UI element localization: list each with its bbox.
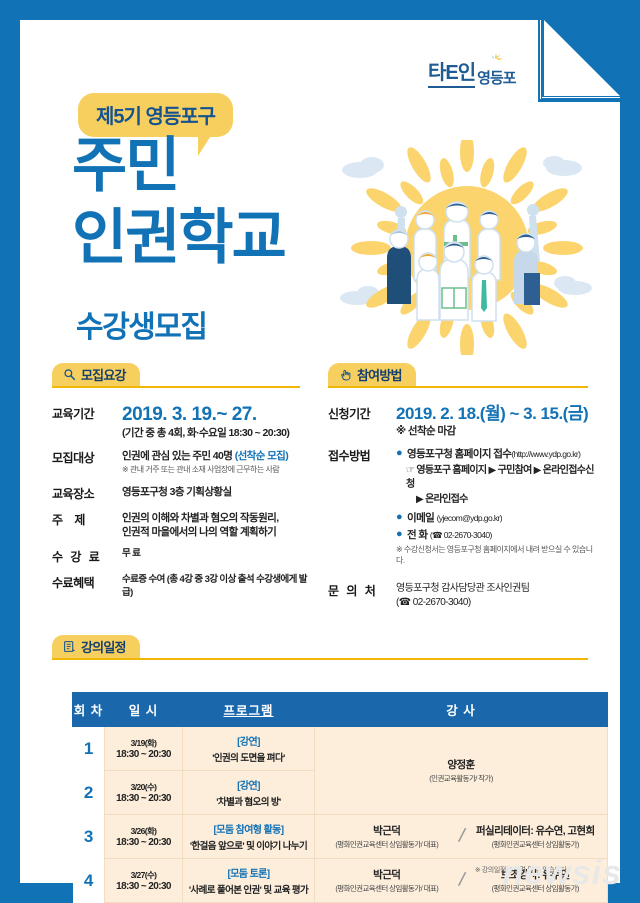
info-label-fee: 수 강 료: [52, 548, 114, 565]
apply-heading-tab: 참여방법: [328, 363, 416, 386]
recruit-section-heading: 모집요강: [52, 363, 300, 386]
search-icon: [63, 368, 76, 381]
cell-program-name-4: '사례로 풀어본 인권' 및 교육 평가: [189, 885, 308, 896]
schedule-heading-label: 강의일정: [81, 637, 126, 656]
list-document-icon: [63, 640, 76, 653]
info-label-benefit: 수료혜택: [52, 574, 114, 600]
table-row: 1 3/19(화) 18:30 ~ 20:30 [강연] '인권의 도면을 펴다…: [73, 727, 608, 771]
cell-date-2: 3/20(수): [131, 782, 157, 792]
cell-datetime-2: 3/20(수) 18:30 ~ 20:30: [105, 771, 183, 815]
info-label-apply-method: 접수방법: [328, 447, 390, 567]
page-subtitle: 수강생모집: [76, 302, 207, 346]
cell-program-name-2: '차별과 혐오의 방': [216, 797, 280, 808]
recruit-heading-label: 모집요강: [81, 365, 126, 384]
info-value-contact-team: 영등포구청 감사담당관 조사인권팀: [396, 582, 529, 596]
series-badge: 제5기 영등포구: [78, 93, 233, 137]
lecturer-name-4: 박근덕: [317, 867, 457, 882]
lecturer-org-4: (평화인권교육센터 상임활동가/ 대표): [317, 883, 457, 894]
cell-program-1: [강연] '인권의 도면을 펴다': [183, 727, 315, 771]
cell-time-1: 18:30 ~ 20:30: [116, 749, 171, 760]
cell-no-1: 1: [73, 727, 105, 771]
lecturer-org-3: (평화인권교육센터 상임활동가/ 대표): [317, 839, 457, 850]
logo-main-text: 타E인: [428, 56, 475, 88]
apply-section-heading: 참여방법: [328, 363, 588, 386]
lecturer-primary-3: 박근덕 (평화인권교육센터 상임활동가/ 대표): [317, 823, 457, 850]
apply-method-phone-value: (☎ 02-2670-3040): [430, 530, 492, 540]
info-row-apply-period: 신청기간 2019. 2. 18.(월) ~ 3. 15.(금) ※ 선착순 마…: [328, 405, 600, 438]
info-label-apply-period: 신청기간: [328, 405, 390, 438]
apply-method-email: ● 이메일 (yjecom@ydp.go.kr): [396, 511, 600, 525]
cell-time-3: 18:30 ~ 20:30: [116, 837, 171, 848]
poster-root: 타E인 영등포 제5기 영등포구 주민 인권학교 수강생모집: [0, 0, 640, 903]
apply-heading-label: 참여방법: [357, 365, 402, 384]
table-row: 3 3/26(화) 18:30 ~ 20:30 [모둠 참여형 활동] '한걸음…: [73, 815, 608, 859]
apply-method-phone: ● 전 화 (☎ 02-2670-3040): [396, 528, 600, 542]
newsis-watermark: newsis: [503, 854, 622, 893]
info-label-place: 교육장소: [52, 485, 114, 502]
apply-method-email-label: 이메일: [407, 512, 434, 524]
cell-no-3: 3: [73, 815, 105, 859]
lecturer-name-1: 양정훈: [317, 757, 605, 772]
apply-method-email-value[interactable]: (yjecom@ydp.go.kr): [437, 513, 502, 523]
cell-program-tag-4: [모둠 토론]: [185, 865, 312, 880]
info-value-topic-line1: 인권의 이해와 차별과 혐오의 작동원리,: [122, 511, 279, 525]
apply-method-homepage: ● 영등포구청 홈페이지 접수(http://www.ydp.go.kr): [396, 447, 600, 461]
lecturer-secondary-3: 퍼실리테이터: 유수연, 고현희 (평화인권교육센터 상임활동가): [465, 823, 605, 850]
cell-date-4: 3/27(수): [131, 870, 157, 880]
lecturer2-name-3: 퍼실리테이터: 유수연, 고현희: [465, 823, 605, 838]
info-value-contact-phone: (☎ 02-2670-3040): [396, 596, 529, 610]
series-badge-tail: [198, 134, 212, 156]
apply-method-online: ▶ 온라인접수: [396, 493, 600, 507]
apply-heading-rule: [328, 386, 588, 388]
schedule-table-header-row: 회 차 일 시 프로그램 강 사: [73, 693, 608, 727]
info-row-topic: 주 제 인권의 이해와 차별과 혐오의 작동원리, 인권적 마을에서의 나의 역…: [52, 511, 314, 539]
apply-method-homepage-url[interactable]: (http://www.ydp.go.kr): [511, 449, 580, 459]
schedule-heading-tab: 강의일정: [52, 635, 140, 658]
info-row-period: 교육기간 2019. 3. 19.~ 27. (기간 중 총 4회, 화·수요일…: [52, 405, 314, 440]
col-header-no: 회 차: [73, 693, 105, 727]
info-value-target-note: ※ 관내 거주 또는 관내 소재 사업장에 근무하는 사람: [122, 465, 288, 476]
info-label-contact: 문 의 처: [328, 582, 390, 609]
info-value-benefit: 수료증 수여 (총 4강 중 3강 이상 출석 수강생에게 발급): [114, 574, 314, 600]
recruit-heading-tab: 모집요강: [52, 363, 140, 386]
page-title-line2: 인권학교: [72, 208, 285, 268]
cell-program-3: [모둠 참여형 활동] '한걸음 앞으로' 및 이야기 나누기: [183, 815, 315, 859]
info-label-period: 교육기간: [52, 405, 114, 440]
info-value-apply-period: 2019. 2. 18.(월) ~ 3. 15.(금): [396, 405, 588, 424]
info-row-fee: 수 강 료 무 료: [52, 548, 314, 565]
corner-fold-decoration: [538, 20, 620, 102]
col-header-program: 프로그램: [183, 693, 315, 727]
lecturer-primary-4: 박근덕 (평화인권교육센터 상임활동가/ 대표): [317, 867, 457, 894]
cell-program-tag-2: [강연]: [185, 777, 312, 792]
cell-program-4: [모둠 토론] '사례로 풀어본 인권' 및 교육 평가: [183, 859, 315, 903]
info-row-place: 교육장소 영등포구청 3층 기획상황실: [52, 485, 314, 502]
recruit-info-list: 교육기간 2019. 3. 19.~ 27. (기간 중 총 4회, 화·수요일…: [52, 405, 314, 609]
info-row-target: 모집대상 인권에 관심 있는 주민 40명 (선착순 모집) ※ 관내 거주 또…: [52, 449, 314, 476]
cell-datetime-1: 3/19(화) 18:30 ~ 20:30: [105, 727, 183, 771]
apply-method-phone-label: 전 화: [407, 529, 427, 541]
info-row-contact: 문 의 처 영등포구청 감사담당관 조사인권팀 (☎ 02-2670-3040): [328, 582, 600, 609]
cell-program-2: [강연] '차별과 혐오의 방': [183, 771, 315, 815]
apply-method-homepage-text: 영등포구청 홈페이지 접수: [407, 448, 511, 460]
cell-program-name-3: '한걸음 앞으로' 및 이야기 나누기: [190, 841, 307, 852]
cell-no-4: 4: [73, 859, 105, 903]
info-value-period-note: (기간 중 총 4회, 화·수요일 18:30 ~ 20:30): [122, 426, 289, 440]
lecturer-org-1: (인권교육활동가/ 작가): [317, 773, 605, 784]
col-header-datetime: 일 시: [105, 693, 183, 727]
recruit-heading-rule: [52, 386, 300, 388]
info-value-target: 인권에 관심 있는 주민 40명: [122, 450, 232, 462]
spark-icon: [488, 52, 504, 68]
schedule-section-heading: 강의일정: [52, 635, 588, 658]
schedule-heading-rule: [52, 658, 588, 660]
apply-method-path: ☞ 영등포구 홈페이지 ▶ 구민참여 ▶ 온라인접수신청: [396, 464, 600, 491]
apply-info-list: 신청기간 2019. 2. 18.(월) ~ 3. 15.(금) ※ 선착순 마…: [328, 405, 600, 618]
cell-date-1: 3/19(화): [131, 738, 157, 748]
lecturer-name-3: 박근덕: [317, 823, 457, 838]
info-value-apply-period-note: ※ 선착순 마감: [396, 424, 588, 438]
info-value-place: 영등포구청 3층 기획상황실: [114, 485, 232, 502]
info-label-target: 모집대상: [52, 449, 114, 476]
cell-no-2: 2: [73, 771, 105, 815]
cell-program-tag-1: [강연]: [185, 733, 312, 748]
col-header-lecturer: 강 사: [315, 693, 608, 727]
corner-fold-white: [544, 20, 620, 96]
bullet-dot-icon: ●: [396, 447, 402, 459]
corner-fold-line-horizontal: [542, 96, 620, 99]
cell-lecturer-1-2: 양정훈 (인권교육활동가/ 작가): [315, 727, 608, 815]
poster-sheet: 타E인 영등포 제5기 영등포구 주민 인권학교 수강생모집: [20, 20, 620, 883]
info-row-benefit: 수료혜택 수료증 수여 (총 4강 중 3강 이상 출석 수강생에게 발급): [52, 574, 314, 600]
cell-program-tag-3: [모둠 참여형 활동]: [185, 821, 312, 836]
page-title-line1: 주민: [72, 136, 178, 196]
info-label-topic: 주 제: [52, 511, 114, 539]
hand-pointer-icon: [339, 368, 352, 381]
yeongdeungpo-logo: 타E인 영등포: [428, 56, 548, 96]
info-value-period-date: 2019. 3. 19.~ 27.: [122, 405, 289, 426]
info-value-fee: 무 료: [114, 548, 140, 565]
cell-time-2: 18:30 ~ 20:30: [116, 793, 171, 804]
cell-date-3: 3/26(화): [131, 826, 157, 836]
cell-program-name-1: '인권의 도면을 펴다': [212, 753, 285, 764]
info-value-target-highlight: (선착순 모집): [235, 450, 288, 462]
bullet-dot-icon: ●: [396, 528, 402, 540]
cell-lecturer-3: 박근덕 (평화인권교육센터 상임활동가/ 대표) / 퍼실리테이터: 유수연, …: [315, 815, 608, 859]
cell-datetime-3: 3/26(화) 18:30 ~ 20:30: [105, 815, 183, 859]
people-raising-hands-sunburst-illustration: [332, 140, 602, 355]
logo-sub-text: 영등포: [477, 67, 515, 88]
bullet-dot-icon: ●: [396, 511, 402, 523]
info-row-apply-method: 접수방법 ● 영등포구청 홈페이지 접수(http://www.ydp.go.k…: [328, 447, 600, 567]
apply-method-note: ※ 수강신청서는 영등포구청 홈페이지에서 내려 받으실 수 있습니다.: [396, 545, 600, 567]
cell-datetime-4: 3/27(수) 18:30 ~ 20:30: [105, 859, 183, 903]
lecturer2-org-3: (평화인권교육센터 상임활동가): [465, 839, 605, 850]
info-value-topic-line2: 인권적 마을에서의 나의 역할 계획하기: [122, 525, 279, 539]
cell-time-4: 18:30 ~ 20:30: [116, 881, 171, 892]
